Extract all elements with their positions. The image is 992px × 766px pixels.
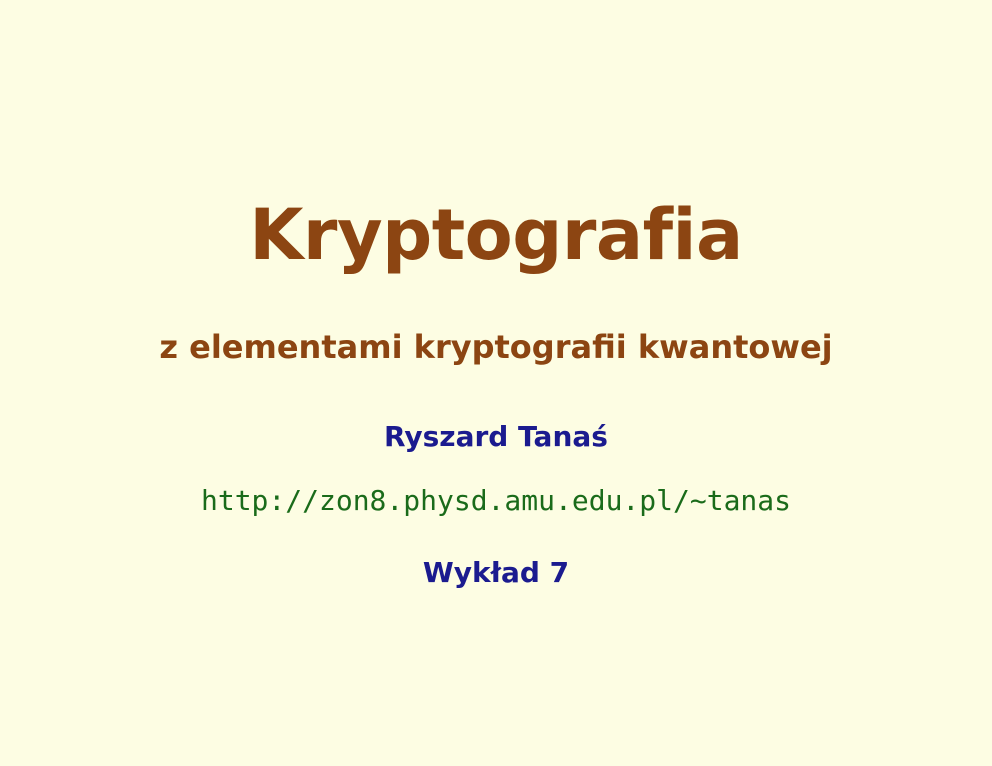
lecture-number: Wykład 7 [0, 556, 992, 590]
author-name: Ryszard Tanaś [0, 420, 992, 454]
title-slide: Kryptografia z elementami kryptografii k… [0, 0, 992, 766]
page-title: Kryptografia [0, 200, 992, 270]
page-subtitle: z elementami kryptografii kwantowej [0, 328, 992, 366]
author-homepage-url[interactable]: http://zon8.physd.amu.edu.pl/~tanas [0, 484, 992, 518]
